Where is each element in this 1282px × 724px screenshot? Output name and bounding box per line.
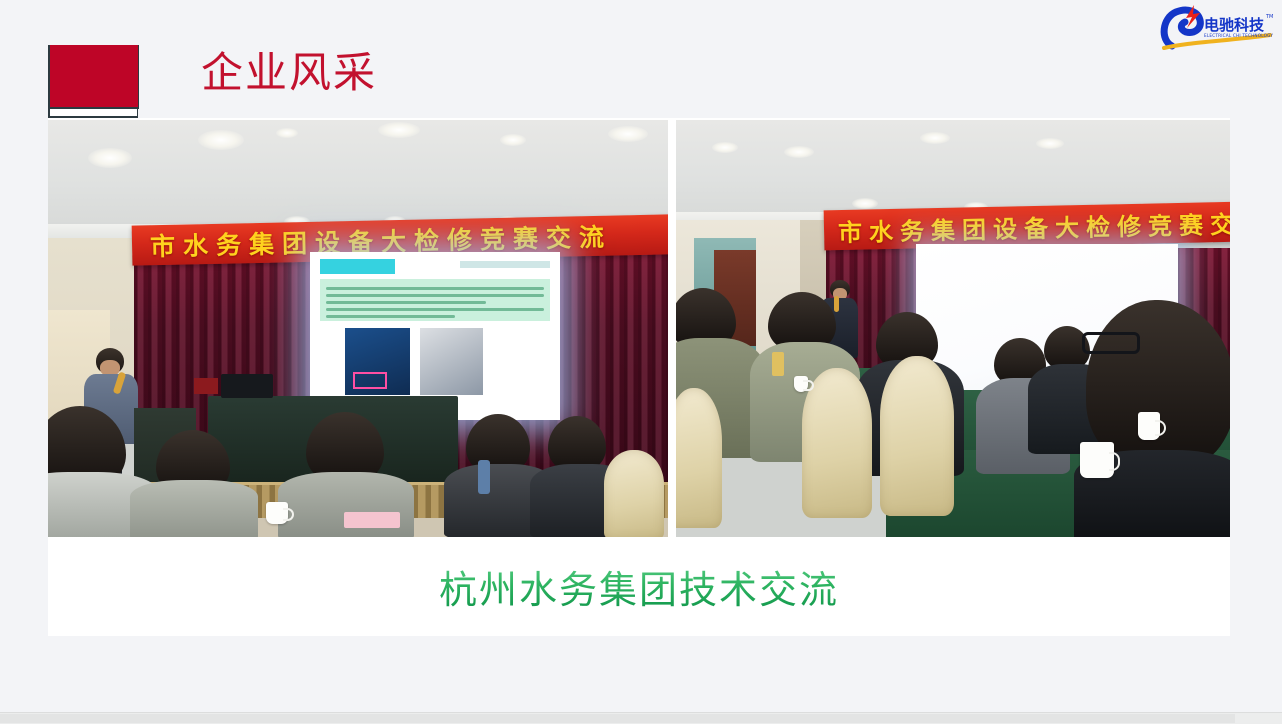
tea-cup xyxy=(1080,442,1114,478)
slide-title-accent xyxy=(460,261,550,268)
title-marker-underline xyxy=(48,109,138,118)
monitor xyxy=(221,374,273,398)
downlight-icon xyxy=(784,146,814,158)
title-marker-block xyxy=(48,45,139,109)
downlight-icon xyxy=(920,132,950,144)
tea-cup xyxy=(266,502,288,524)
brand-tm-mark: TM xyxy=(1265,14,1273,20)
conference-chair xyxy=(880,356,954,516)
conference-chair xyxy=(802,368,872,518)
eyeglasses-icon xyxy=(1082,332,1140,354)
downlight-icon xyxy=(88,148,132,168)
red-box xyxy=(194,378,218,394)
water-bottle xyxy=(772,352,784,376)
photo-right-scene: 市水务集团设备大检修竞赛交 xyxy=(676,120,1230,537)
tea-cup xyxy=(1138,412,1160,440)
downlight-icon xyxy=(608,126,648,142)
slide-text-block xyxy=(320,279,550,321)
slide-title-bar xyxy=(320,259,395,274)
conference-chair xyxy=(604,450,664,537)
downlight-icon xyxy=(852,198,878,209)
photo-gallery: 市水务集团设备大检修竞赛交流 xyxy=(48,120,1230,537)
downlight-icon xyxy=(1036,138,1064,149)
caption-area: 杭州水务集团技术交流 xyxy=(48,537,1230,636)
downlight-icon xyxy=(500,134,526,146)
microphone-icon xyxy=(834,296,839,312)
downlight-icon xyxy=(276,128,298,138)
slide-photo-left xyxy=(345,328,410,395)
slide-highlight-box xyxy=(353,372,387,389)
page-root: 电驰科技 ELECTRICAL CHI TECHNOLOGY TM 企业风采 xyxy=(0,0,1282,724)
brand-english-name: ELECTRICAL CHI TECHNOLOGY xyxy=(1204,33,1273,38)
brand-logo[interactable]: 电驰科技 ELECTRICAL CHI TECHNOLOGY TM xyxy=(1158,2,1276,54)
photo-left-scene: 市水务集团设备大检修竞赛交流 xyxy=(48,120,668,537)
slide-photo-right xyxy=(420,328,483,395)
downlight-icon xyxy=(198,130,244,150)
page-title: 企业风采 xyxy=(201,44,377,102)
gallery-photo-left[interactable]: 市水务集团设备大检修竞赛交流 xyxy=(48,120,668,537)
horizontal-scrollbar-thumb[interactable] xyxy=(0,714,1235,723)
gallery-photo-right[interactable]: 市水务集团设备大检修竞赛交 xyxy=(676,120,1230,537)
horizontal-scrollbar-track[interactable] xyxy=(0,712,1282,724)
projected-slide xyxy=(310,252,560,420)
page-header: 企业风采 xyxy=(48,40,377,116)
water-bottle xyxy=(478,460,490,494)
event-banner-text: 市水务集团设备大检修竞赛交 xyxy=(824,204,1230,248)
tea-cup xyxy=(794,376,808,392)
gallery-caption: 杭州水务集团技术交流 xyxy=(439,559,839,614)
paper-sheet xyxy=(344,512,400,528)
content-card: 市水务集团设备大检修竞赛交流 xyxy=(48,118,1230,636)
brand-chinese-name: 电驰科技 xyxy=(1204,16,1265,34)
downlight-icon xyxy=(378,122,420,138)
downlight-icon xyxy=(712,142,738,153)
conference-chair xyxy=(676,388,722,528)
audience-body xyxy=(130,480,258,537)
